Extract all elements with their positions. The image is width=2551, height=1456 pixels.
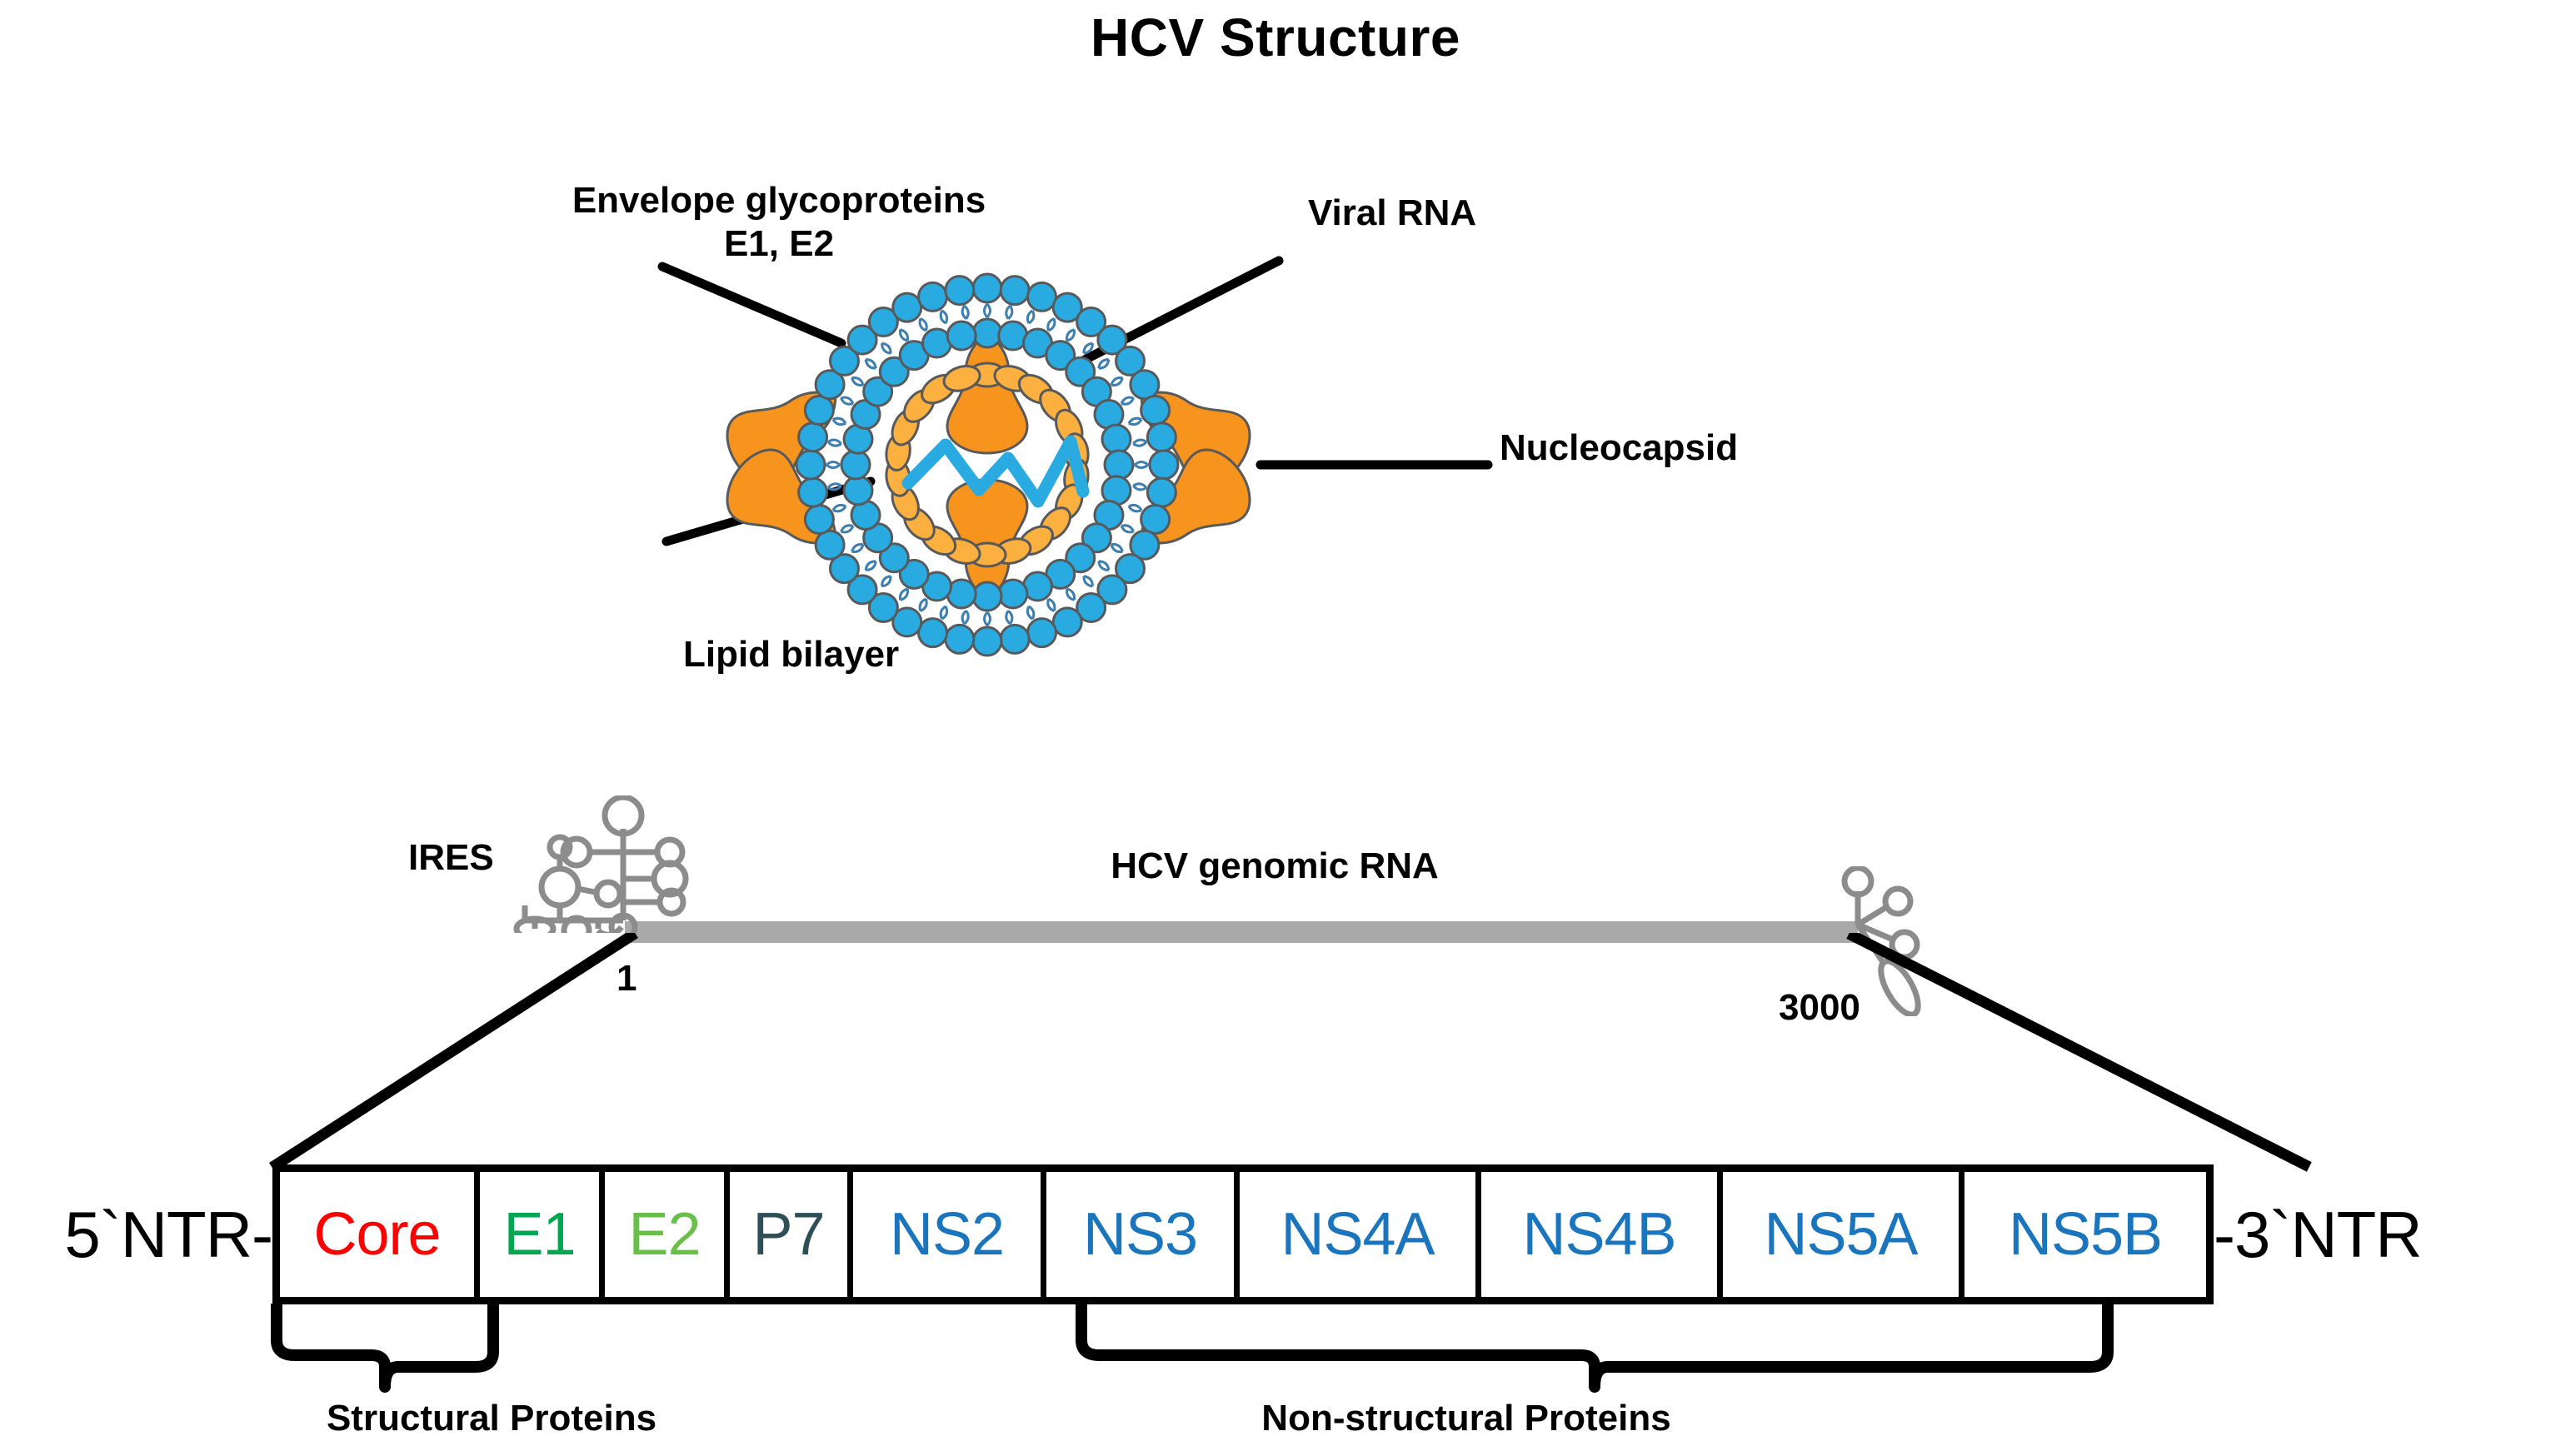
gene-label: E2	[628, 1204, 700, 1264]
envelope-label-line2: E1, E2	[487, 222, 1071, 266]
label-structural-proteins: Structural Proteins	[200, 1398, 783, 1439]
label-non-structural-proteins: Non-structural Proteins	[1066, 1398, 1866, 1439]
gene-box-ns5a[interactable]: NS5A	[1723, 1172, 1964, 1297]
gene-box-ns2[interactable]: NS2	[853, 1172, 1046, 1297]
gene-label: NS5A	[1764, 1204, 1917, 1264]
gene-box-e2[interactable]: E2	[605, 1172, 730, 1297]
label-3-prime-ntr: -3`NTR	[2214, 1197, 2422, 1273]
ires-structure-icon	[500, 795, 691, 933]
gene-box-ns4b[interactable]: NS4B	[1481, 1172, 1723, 1297]
gene-box-core[interactable]: Core	[280, 1172, 480, 1297]
gene-box-e1[interactable]: E1	[480, 1172, 605, 1297]
page-title: HCV Structure	[0, 7, 2551, 68]
gene-label: E1	[503, 1204, 575, 1264]
label-lipid-bilayer: Lipid bilayer	[683, 633, 1075, 676]
gene-box-p7[interactable]: P7	[730, 1172, 853, 1297]
gene-label: P7	[752, 1204, 824, 1264]
gene-label: NS5B	[2009, 1204, 2162, 1264]
label-viral-rna: Viral RNA	[1308, 192, 1641, 235]
protein-group-braces	[0, 1304, 2551, 1404]
label-envelope-glycoproteins: Envelope glycoproteins E1, E2	[487, 179, 1071, 266]
polyprotein-diagram: 5`NTR- CoreE1E2P7NS2NS3NS4ANS4BNS5ANS5B …	[0, 1159, 2551, 1309]
envelope-label-line1: Envelope glycoproteins	[487, 179, 1071, 222]
gene-box-ns4a[interactable]: NS4A	[1240, 1172, 1481, 1297]
label-ires: IRES	[408, 837, 494, 879]
gene-label: Core	[313, 1204, 440, 1264]
polyprotein-box: CoreE1E2P7NS2NS3NS4ANS4BNS5ANS5B	[272, 1164, 2214, 1304]
label-nucleocapsid: Nucleocapsid	[1500, 426, 1933, 470]
gene-box-ns5b[interactable]: NS5B	[1964, 1172, 2206, 1297]
gene-label: NS4A	[1280, 1204, 1434, 1264]
gene-label: NS4B	[1522, 1204, 1675, 1264]
label-5-prime-ntr: 5`NTR-	[0, 1197, 272, 1273]
gene-label: NS2	[890, 1204, 1004, 1264]
gene-label: NS3	[1083, 1204, 1197, 1264]
gene-box-ns3[interactable]: NS3	[1046, 1172, 1240, 1297]
label-hcv-genomic-rna: HCV genomic RNA	[1025, 845, 1525, 887]
genome-expansion-connector	[0, 933, 2551, 1174]
